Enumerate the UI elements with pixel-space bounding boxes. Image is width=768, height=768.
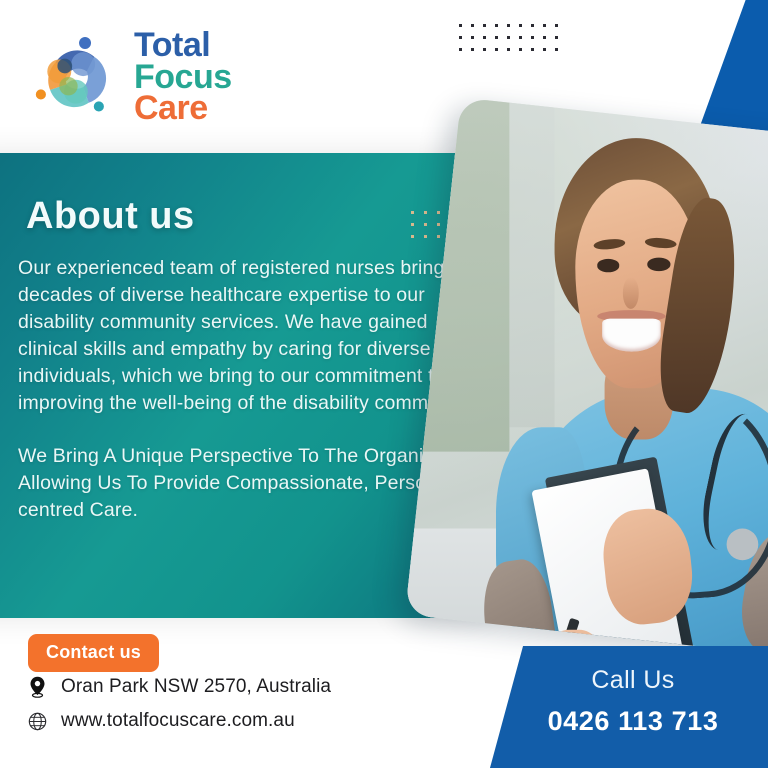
logo-mark-icon xyxy=(28,31,120,123)
globe-icon xyxy=(26,712,48,731)
brand-logo: Total Focus Care xyxy=(28,30,232,125)
contact-website-text: www.totalfocuscare.com.au xyxy=(61,710,295,732)
header-dot-grid-decoration xyxy=(459,24,558,51)
brand-wordmark: Total Focus Care xyxy=(134,30,232,125)
page-title: About us xyxy=(26,195,195,238)
social-media-graphic: Total Focus Care About us Our experience… xyxy=(0,0,768,768)
contact-website-line[interactable]: www.totalfocuscare.com.au xyxy=(26,710,295,732)
nurse-photo-card xyxy=(405,97,768,654)
contact-address-line: Oran Park NSW 2570, Australia xyxy=(26,676,331,698)
map-pin-icon xyxy=(26,676,48,698)
call-us-label: Call Us xyxy=(470,666,768,695)
contact-us-badge[interactable]: Contact us xyxy=(28,634,159,672)
call-us-phone-number[interactable]: 0426 113 713 xyxy=(470,706,768,737)
call-us-block: Call Us 0426 113 713 xyxy=(470,646,768,768)
brand-word-total: Total xyxy=(134,30,232,62)
contact-address-text: Oran Park NSW 2570, Australia xyxy=(61,676,331,698)
about-body-copy: Our experienced team of registered nurse… xyxy=(18,255,488,524)
about-paragraph-1: Our experienced team of registered nurse… xyxy=(18,255,488,417)
brand-word-care: Care xyxy=(134,93,232,125)
